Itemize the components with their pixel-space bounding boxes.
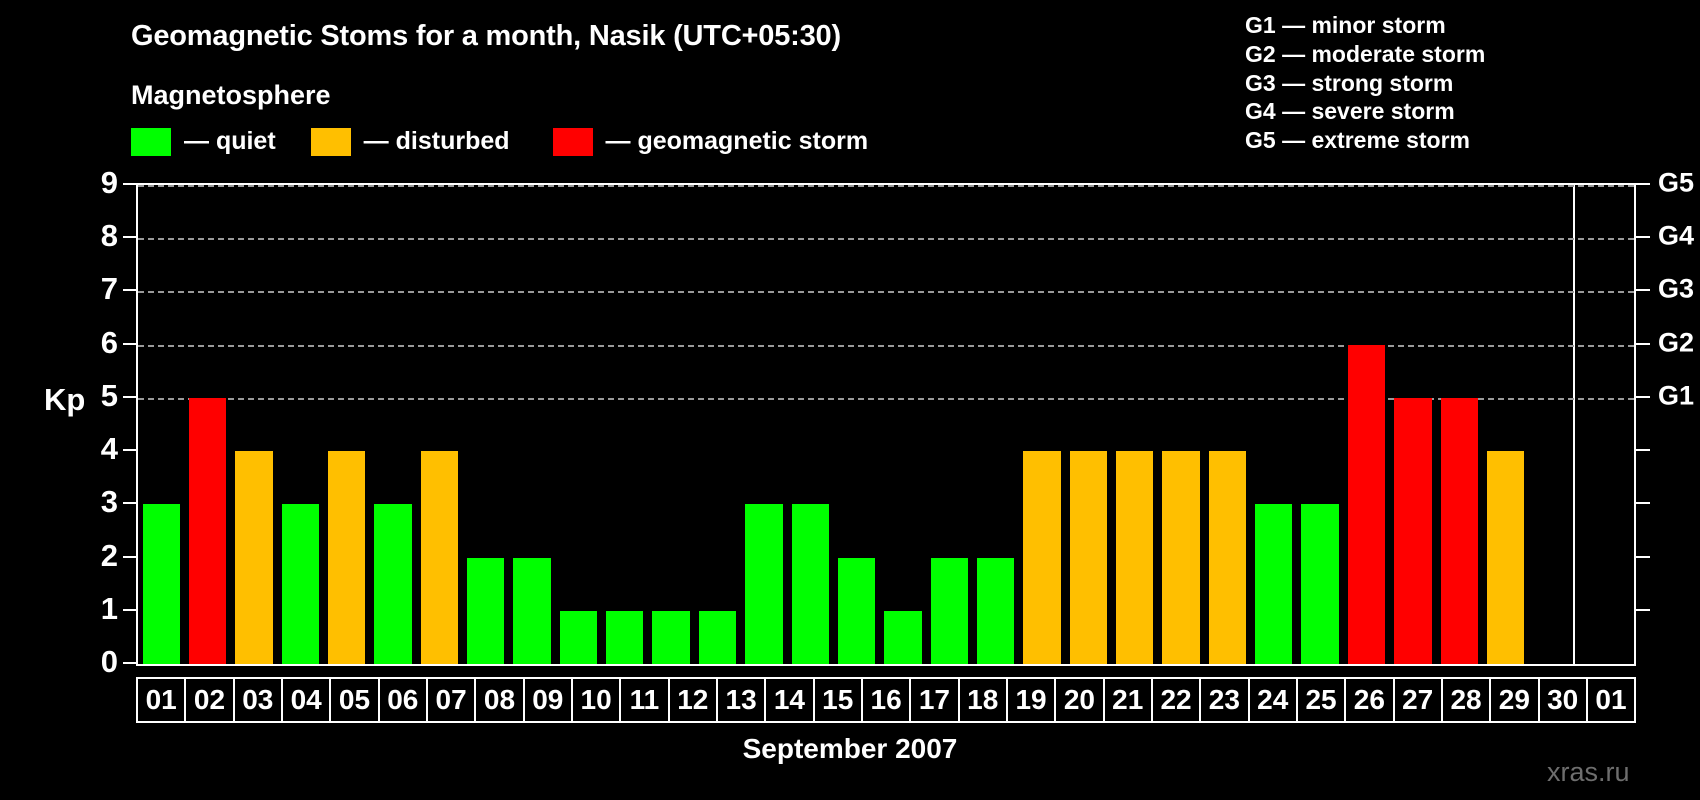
legend-title: Magnetosphere bbox=[131, 80, 331, 111]
bar[interactable] bbox=[513, 558, 550, 664]
right-tick-2 bbox=[1636, 556, 1650, 558]
bar-cell[interactable] bbox=[138, 185, 184, 664]
x-axis-day-17[interactable]: 17 bbox=[909, 677, 959, 723]
bar[interactable] bbox=[1394, 398, 1431, 664]
bar[interactable] bbox=[1116, 451, 1153, 664]
x-axis-day-07[interactable]: 07 bbox=[426, 677, 476, 723]
y-tick-7 bbox=[123, 289, 136, 291]
storm-scale-line-g3: G3 — strong storm bbox=[1245, 69, 1485, 98]
bar-cell[interactable] bbox=[833, 185, 879, 664]
bar[interactable] bbox=[1162, 451, 1199, 664]
y-tick-label-2: 2 bbox=[78, 538, 118, 574]
x-axis-day-01[interactable]: 01 bbox=[136, 677, 186, 723]
legend-label-storm: — geomagnetic storm bbox=[606, 127, 869, 156]
bar[interactable] bbox=[467, 558, 504, 664]
legend-swatch-quiet bbox=[131, 128, 171, 156]
x-axis-day-04[interactable]: 04 bbox=[281, 677, 331, 723]
x-axis-day-28[interactable]: 28 bbox=[1441, 677, 1491, 723]
bar-cell[interactable] bbox=[1251, 185, 1297, 664]
x-axis-day-06[interactable]: 06 bbox=[378, 677, 428, 723]
right-tick-5 bbox=[1636, 396, 1650, 398]
x-axis-day-20[interactable]: 20 bbox=[1054, 677, 1104, 723]
bar-cell[interactable] bbox=[1019, 185, 1065, 664]
bar[interactable] bbox=[374, 504, 411, 664]
bar-cell[interactable] bbox=[1158, 185, 1204, 664]
x-axis-title: September 2007 bbox=[0, 733, 1700, 765]
y-tick-label-3: 3 bbox=[78, 484, 118, 520]
bar-cell[interactable] bbox=[323, 185, 369, 664]
bar[interactable] bbox=[235, 451, 272, 664]
bar-cell[interactable] bbox=[787, 185, 833, 664]
x-axis-day-05[interactable]: 05 bbox=[329, 677, 379, 723]
plot-area bbox=[136, 183, 1636, 666]
bar-cell[interactable] bbox=[1343, 185, 1389, 664]
g-label-g5: G5 bbox=[1658, 168, 1694, 199]
bar[interactable] bbox=[1209, 451, 1246, 664]
right-tick-7 bbox=[1636, 289, 1650, 291]
bar[interactable] bbox=[421, 451, 458, 664]
bar-cell[interactable] bbox=[694, 185, 740, 664]
y-tick-label-6: 6 bbox=[78, 325, 118, 361]
watermark: xras.ru bbox=[1547, 757, 1630, 788]
x-axis-day-14[interactable]: 14 bbox=[764, 677, 814, 723]
bar[interactable] bbox=[1023, 451, 1060, 664]
y-tick-label-1: 1 bbox=[78, 591, 118, 627]
x-axis-day-08[interactable]: 08 bbox=[474, 677, 524, 723]
right-tick-4 bbox=[1636, 449, 1650, 451]
g-label-g4: G4 bbox=[1658, 221, 1694, 252]
bar[interactable] bbox=[1070, 451, 1107, 664]
bar[interactable] bbox=[560, 611, 597, 664]
x-axis-day-03[interactable]: 03 bbox=[233, 677, 283, 723]
bar-cell[interactable] bbox=[509, 185, 555, 664]
bar[interactable] bbox=[838, 558, 875, 664]
right-tick-3 bbox=[1636, 502, 1650, 504]
storm-scale-line-g5: G5 — extreme storm bbox=[1245, 126, 1485, 155]
g-label-g3: G3 bbox=[1658, 274, 1694, 305]
bar[interactable] bbox=[328, 451, 365, 664]
bar[interactable] bbox=[189, 398, 226, 664]
bar[interactable] bbox=[745, 504, 782, 664]
bar[interactable] bbox=[884, 611, 921, 664]
right-tick-8 bbox=[1636, 236, 1650, 238]
chart-title: Geomagnetic Stoms for a month, Nasik (UT… bbox=[131, 20, 841, 53]
bar-cell[interactable] bbox=[1436, 185, 1482, 664]
bar-cell[interactable] bbox=[231, 185, 277, 664]
legend-label-disturbed: — disturbed bbox=[364, 127, 510, 156]
storm-scale-key: G1 — minor storm G2 — moderate storm G3 … bbox=[1245, 11, 1485, 155]
x-axis-day-12[interactable]: 12 bbox=[668, 677, 718, 723]
bar-cell[interactable] bbox=[277, 185, 323, 664]
storm-scale-line-g4: G4 — severe storm bbox=[1245, 97, 1485, 126]
bar[interactable] bbox=[1301, 504, 1338, 664]
y-tick-label-8: 8 bbox=[78, 218, 118, 254]
y-tick-label-9: 9 bbox=[78, 165, 118, 201]
x-axis-day-21[interactable]: 21 bbox=[1103, 677, 1153, 723]
y-tick-8 bbox=[123, 236, 136, 238]
storm-scale-line-g1: G1 — minor storm bbox=[1245, 11, 1485, 40]
bar-cell[interactable] bbox=[926, 185, 972, 664]
bar[interactable] bbox=[282, 504, 319, 664]
bar-cell[interactable] bbox=[555, 185, 601, 664]
right-tick-1 bbox=[1636, 609, 1650, 611]
bar-cell[interactable] bbox=[972, 185, 1018, 664]
x-axis-day-13[interactable]: 13 bbox=[716, 677, 766, 723]
x-axis-day-29[interactable]: 29 bbox=[1489, 677, 1539, 723]
legend-item-quiet: — quiet bbox=[131, 127, 276, 156]
bar[interactable] bbox=[931, 558, 968, 664]
x-axis-day-18[interactable]: 18 bbox=[958, 677, 1008, 723]
magnetosphere-legend: — quiet — disturbed — geomagnetic storm bbox=[131, 127, 868, 156]
chart-canvas: Geomagnetic Stoms for a month, Nasik (UT… bbox=[0, 0, 1700, 800]
bar[interactable] bbox=[143, 504, 180, 664]
x-axis-day-15[interactable]: 15 bbox=[813, 677, 863, 723]
bar-cell[interactable] bbox=[1204, 185, 1250, 664]
x-axis-day-22[interactable]: 22 bbox=[1151, 677, 1201, 723]
bar-cell[interactable] bbox=[1390, 185, 1436, 664]
x-axis-day-24[interactable]: 24 bbox=[1248, 677, 1298, 723]
bar[interactable] bbox=[652, 611, 689, 664]
bar[interactable] bbox=[1255, 504, 1292, 664]
bar-cell[interactable] bbox=[370, 185, 416, 664]
y-tick-5 bbox=[123, 396, 136, 398]
y-tick-label-5: 5 bbox=[78, 378, 118, 414]
bar-cell[interactable] bbox=[184, 185, 230, 664]
bar[interactable] bbox=[1348, 345, 1385, 664]
y-tick-1 bbox=[123, 609, 136, 611]
storm-scale-line-g2: G2 — moderate storm bbox=[1245, 40, 1485, 69]
y-tick-6 bbox=[123, 343, 136, 345]
y-tick-3 bbox=[123, 502, 136, 504]
legend-swatch-disturbed bbox=[311, 128, 351, 156]
x-axis-day-27[interactable]: 27 bbox=[1393, 677, 1443, 723]
right-tick-9 bbox=[1636, 183, 1650, 185]
y-tick-label-7: 7 bbox=[78, 271, 118, 307]
bar[interactable] bbox=[1487, 451, 1524, 664]
x-axis-day-16[interactable]: 16 bbox=[861, 677, 911, 723]
bar[interactable] bbox=[606, 611, 643, 664]
g-label-g1: G1 bbox=[1658, 380, 1694, 411]
right-tick-6 bbox=[1636, 343, 1650, 345]
y-tick-label-4: 4 bbox=[78, 431, 118, 467]
bar-cell[interactable] bbox=[1065, 185, 1111, 664]
x-axis-day-11[interactable]: 11 bbox=[619, 677, 669, 723]
bar-cell[interactable] bbox=[463, 185, 509, 664]
bar-cell[interactable] bbox=[1112, 185, 1158, 664]
x-axis-day-30[interactable]: 30 bbox=[1538, 677, 1588, 723]
y-tick-2 bbox=[123, 556, 136, 558]
legend-swatch-storm bbox=[553, 128, 593, 156]
bar[interactable] bbox=[792, 504, 829, 664]
x-axis-day-02[interactable]: 02 bbox=[184, 677, 234, 723]
legend-item-disturbed: — disturbed bbox=[311, 127, 510, 156]
g-label-g2: G2 bbox=[1658, 327, 1694, 358]
x-axis-day-boxes: 0102030405060708091011121314151617181920… bbox=[136, 677, 1636, 723]
bar-cell[interactable] bbox=[1529, 185, 1575, 664]
x-axis-day-26[interactable]: 26 bbox=[1344, 677, 1394, 723]
x-axis-day-23[interactable]: 23 bbox=[1199, 677, 1249, 723]
y-tick-label-0: 0 bbox=[78, 644, 118, 680]
x-axis-day-10[interactable]: 10 bbox=[571, 677, 621, 723]
bar-cell[interactable] bbox=[602, 185, 648, 664]
x-axis-day-25[interactable]: 25 bbox=[1296, 677, 1346, 723]
y-tick-9 bbox=[123, 183, 136, 185]
bar-cell[interactable] bbox=[880, 185, 926, 664]
bar-series bbox=[138, 185, 1575, 664]
plot-inner bbox=[138, 185, 1575, 664]
x-axis-day-01[interactable]: 01 bbox=[1586, 677, 1636, 723]
legend-item-storm: — geomagnetic storm bbox=[553, 127, 869, 156]
bar-cell[interactable] bbox=[416, 185, 462, 664]
legend-label-quiet: — quiet bbox=[184, 127, 276, 156]
bar[interactable] bbox=[699, 611, 736, 664]
y-tick-0 bbox=[123, 662, 136, 664]
x-axis-day-19[interactable]: 19 bbox=[1006, 677, 1056, 723]
bar-cell[interactable] bbox=[1297, 185, 1343, 664]
bar-cell[interactable] bbox=[741, 185, 787, 664]
bar-cell[interactable] bbox=[648, 185, 694, 664]
bar-cell[interactable] bbox=[1482, 185, 1528, 664]
y-tick-4 bbox=[123, 449, 136, 451]
x-axis-day-09[interactable]: 09 bbox=[523, 677, 573, 723]
bar[interactable] bbox=[977, 558, 1014, 664]
bar[interactable] bbox=[1441, 398, 1478, 664]
